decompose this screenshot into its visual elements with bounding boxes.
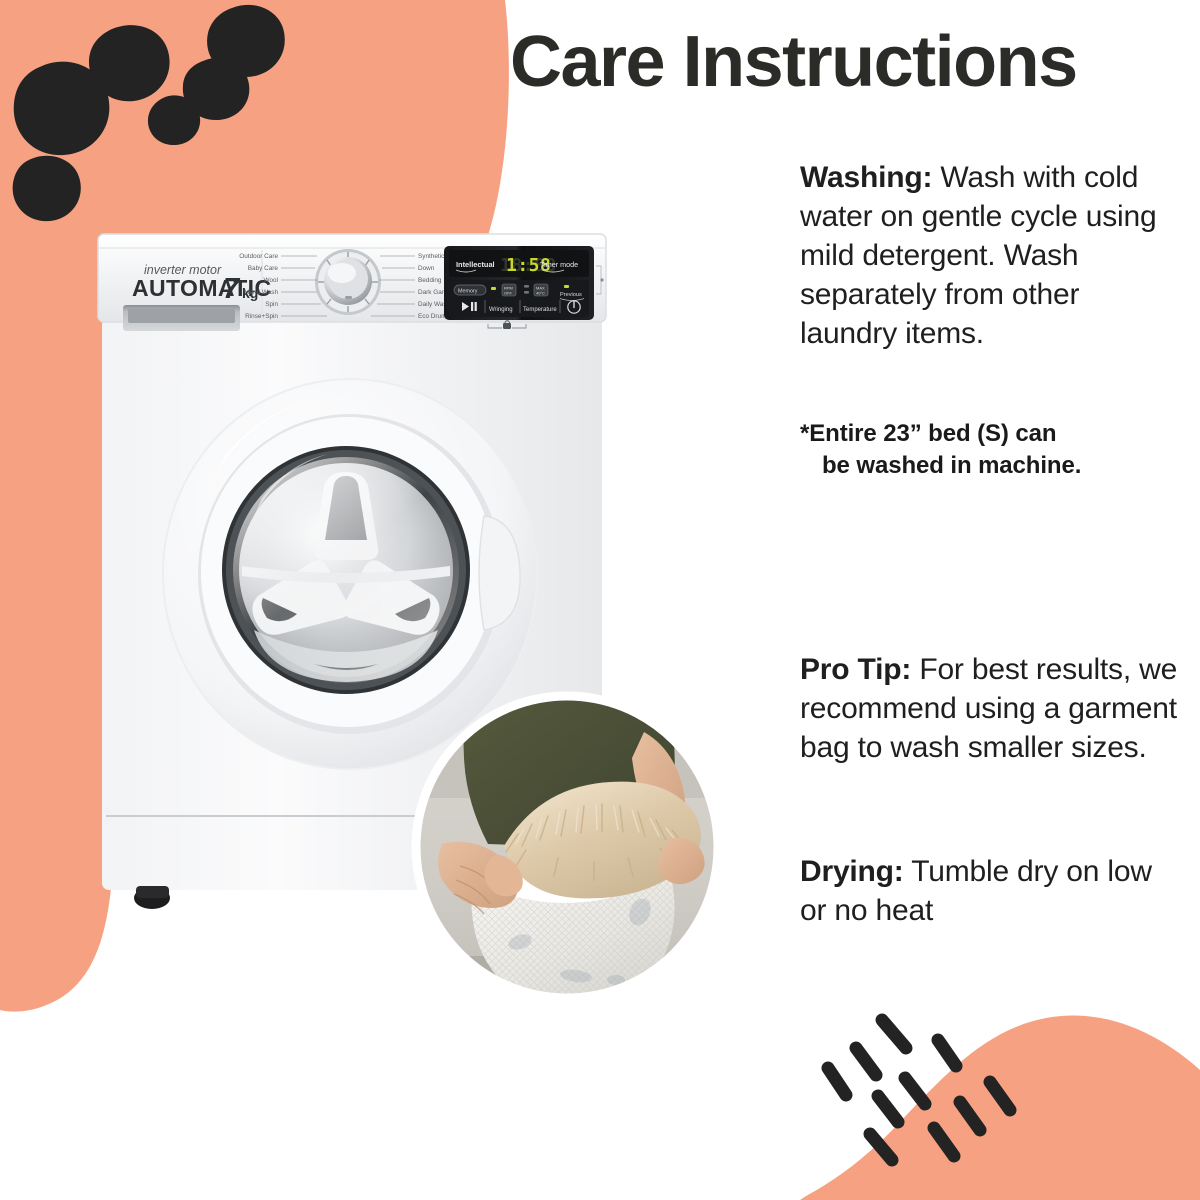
display-right-label: Timer mode <box>540 260 578 269</box>
footnote-line-1: *Entire 23” bed (S) can <box>800 420 1056 447</box>
pro-tip-block: Pro Tip: For best results, we recommend … <box>800 650 1180 767</box>
garment-bag-photo-inset <box>408 688 726 1006</box>
svg-text:Hand Wash: Hand Wash <box>245 289 279 296</box>
detergent-drawer[interactable] <box>123 305 240 331</box>
washing-label: Washing: <box>800 161 932 194</box>
svg-text:Wringing: Wringing <box>489 307 513 313</box>
svg-text:Synthetics: Synthetics <box>418 253 447 260</box>
svg-text:Baby Care: Baby Care <box>248 265 279 272</box>
drying-block: Drying: Tumble dry on low or no heat <box>800 852 1180 930</box>
display-panel: Intellectual 18:88 1:58 Timer mode Memor… <box>444 246 604 329</box>
svg-text:Bedding: Bedding <box>418 277 442 284</box>
memory-button[interactable]: Memory <box>454 285 486 295</box>
svg-text:Outdoor Care: Outdoor Care <box>239 253 278 260</box>
washing-instruction-block: Washing: Wash with cold water on gentle … <box>800 158 1172 353</box>
drying-paragraph: Drying: Tumble dry on low or no heat <box>800 852 1180 930</box>
pro-tip-paragraph: Pro Tip: For best results, we recommend … <box>800 650 1180 767</box>
drying-label: Drying: <box>800 855 904 888</box>
svg-text:40°C: 40°C <box>536 290 545 295</box>
footnote-line-2: be washed in machine. <box>800 450 1172 482</box>
page-title: Care Instructions <box>510 26 1170 98</box>
footnote-block: *Entire 23” bed (S) can be washed in mac… <box>800 418 1172 481</box>
svg-text:Previous: Previous <box>560 292 582 298</box>
program-dial[interactable] <box>315 249 381 315</box>
svg-text:Spin: Spin <box>265 301 278 308</box>
washing-paragraph: Washing: Wash with cold water on gentle … <box>800 158 1172 353</box>
temperature-button[interactable]: Temperature <box>523 307 557 313</box>
svg-text:Down: Down <box>418 265 435 272</box>
display-left-label: Intellectual <box>456 260 495 269</box>
pro-tip-label: Pro Tip: <box>800 653 911 686</box>
svg-text:Temperature: Temperature <box>523 307 557 313</box>
svg-text:Rinse+Spin: Rinse+Spin <box>245 313 278 320</box>
capacity-number: 7 <box>223 273 241 305</box>
wringing-button[interactable]: Wringing <box>489 307 513 313</box>
svg-text:Wool: Wool <box>264 277 278 284</box>
svg-text:Memory: Memory <box>458 289 478 295</box>
svg-text:OFF: OFF <box>504 290 513 295</box>
